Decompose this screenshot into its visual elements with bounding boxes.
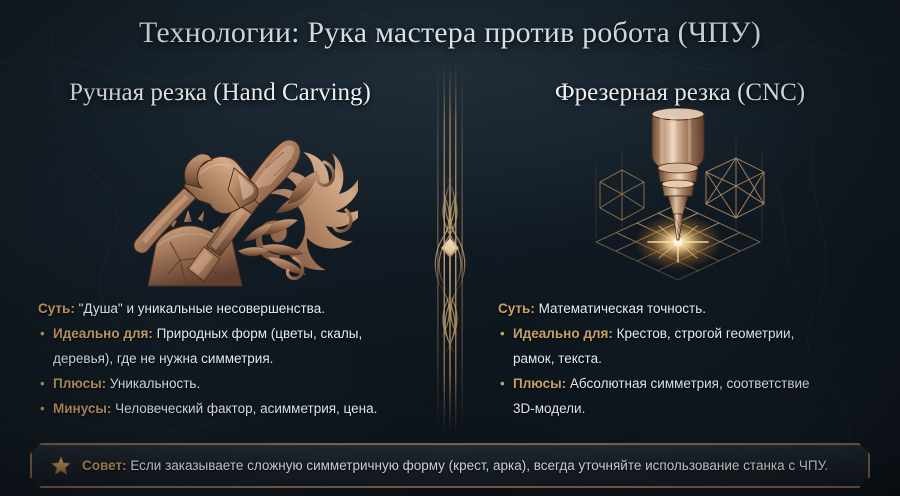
spec-lead-hand-carving: Суть: "Душа" и уникальные несовершенства… (38, 296, 436, 321)
spec-lead-label: Суть: (498, 301, 535, 316)
spec-list-cnc-milling: Суть: Математическая точность. Идеально … (498, 296, 890, 421)
tip-banner: Совет: Если заказываете сложную симметри… (30, 443, 870, 488)
cnc-milling-spindle-icon (588, 108, 768, 286)
spec-item-text-wrap: рамок, текста. (513, 351, 602, 366)
spec-lead-text: Математическая точность. (535, 301, 706, 316)
list-item: Идеально для: Крестов, строгой геометрии… (498, 321, 890, 371)
list-item: Плюсы: Уникальность. (38, 371, 436, 396)
spec-item-text: Уникальность. (106, 376, 200, 391)
list-item: Идеально для: Природных форм (цветы, ска… (38, 321, 436, 371)
spec-item-label: Плюсы: (53, 376, 106, 391)
spec-item-label: Плюсы: (513, 376, 566, 391)
spec-item-text: Крестов, строгой геометрии, (613, 326, 794, 341)
tip-label: Совет: (82, 458, 127, 473)
spec-item-text: Человеческий фактор, асимметрия, цена. (111, 401, 377, 416)
spec-item-label: Минусы: (53, 401, 111, 416)
spec-item-text-wrap: 3D-модели. (513, 401, 585, 416)
spec-item-text-wrap: деревья), где не нужна симметрия. (53, 351, 273, 366)
spec-item-label: Идеально для: (53, 326, 153, 341)
column-title-hand-carving: Ручная резка (Hand Carving) (0, 79, 440, 107)
spec-item-label: Идеально для: (513, 326, 613, 341)
spec-lead-label: Суть: (38, 301, 75, 316)
list-item: Минусы: Человеческий фактор, асимметрия,… (38, 396, 436, 421)
star-icon (50, 455, 72, 477)
spec-item-text: Природных форм (цветы, скалы, (153, 326, 362, 341)
spec-lead-text: "Душа" и уникальные несовершенства. (75, 301, 325, 316)
spec-items-hand-carving: Идеально для: Природных форм (цветы, ска… (38, 321, 436, 421)
tip-body: Если заказываете сложную симметричную фо… (127, 458, 829, 473)
list-item: Плюсы: Абсолютная симметрия, соответстви… (498, 371, 890, 421)
infographic-canvas: Технологии: Рука мастера против робота (… (0, 0, 900, 496)
page-title: Технологии: Рука мастера против робота (… (0, 16, 900, 50)
spec-lead-cnc-milling: Суть: Математическая точность. (498, 296, 890, 321)
spec-item-text: Абсолютная симметрия, соответствие (566, 376, 809, 391)
column-title-cnc-milling: Фрезерная резка (CNC) (460, 79, 900, 107)
spec-items-cnc-milling: Идеально для: Крестов, строгой геометрии… (498, 321, 890, 421)
tip-text: Совет: Если заказываете сложную симметри… (82, 457, 828, 475)
hammer-chisel-ornament-icon (128, 118, 358, 288)
spec-list-hand-carving: Суть: "Душа" и уникальные несовершенства… (38, 296, 436, 421)
